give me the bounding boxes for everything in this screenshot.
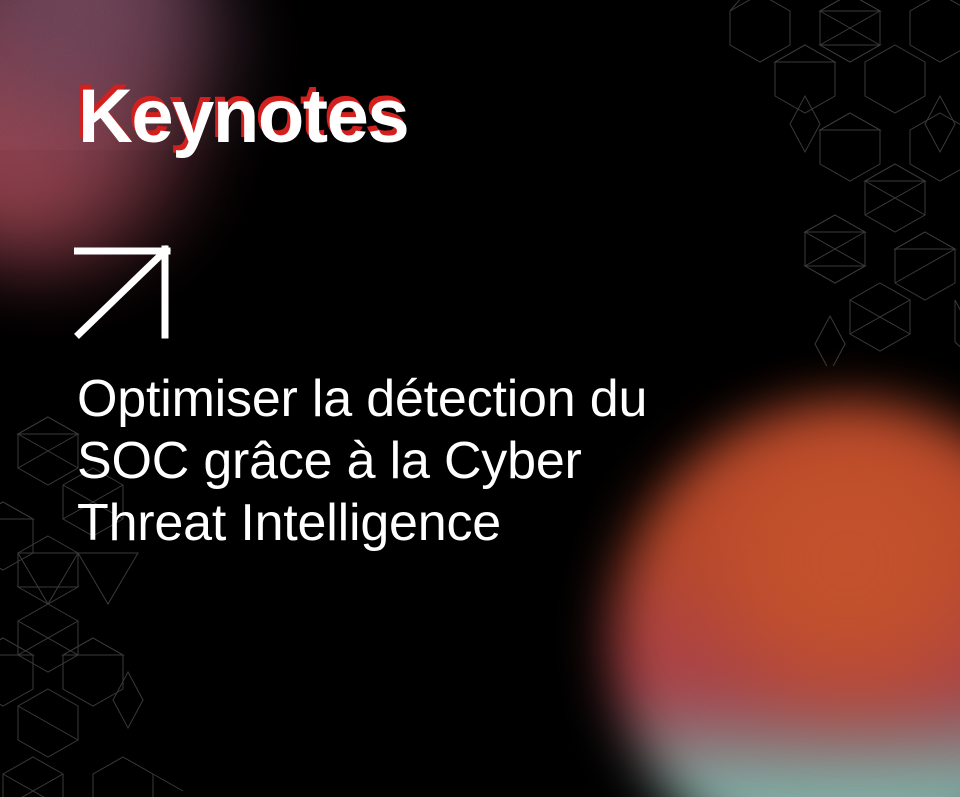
subtitle-line-3: Threat Intelligence bbox=[77, 492, 777, 554]
page-title-text: Keynotes bbox=[78, 74, 408, 160]
subtitle-line-2: SOC grâce à la Cyber bbox=[77, 430, 777, 492]
slide-canvas: Keynotes Keynotes Optimiser la détection… bbox=[0, 0, 960, 797]
slide-content: Keynotes Keynotes Optimiser la détection… bbox=[0, 0, 960, 797]
subtitle: Optimiser la détection du SOC grâce à la… bbox=[77, 368, 777, 554]
arrow-up-right-icon bbox=[74, 243, 174, 339]
subtitle-line-1: Optimiser la détection du bbox=[77, 368, 777, 430]
